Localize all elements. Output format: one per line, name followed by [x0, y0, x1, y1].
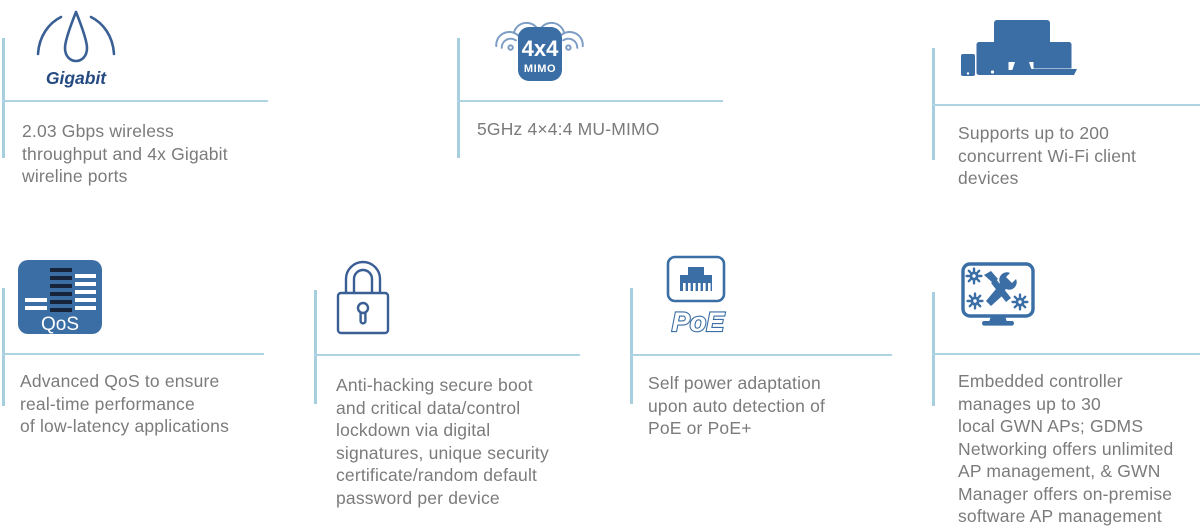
horizontal-rule [457, 100, 723, 102]
horizontal-rule [932, 104, 1200, 106]
feature-card-poe: PoE Self power adaptation upon auto dete… [628, 248, 928, 516]
poe-icon-label: PoE [672, 307, 726, 337]
feature-card-controller: Embedded controller manages up to 30 loc… [930, 248, 1200, 516]
feature-card-gigabit: Gigabit 2.03 Gbps wireless throughput an… [0, 0, 300, 200]
vertical-rule [2, 38, 5, 158]
mimo-icon-sublabel: MIMO [524, 63, 556, 75]
feature-description: 5GHz 4×4:4 MU-MIMO [477, 118, 747, 141]
feature-card-qos: QoS Advanced QoS to ensure real-time per… [0, 248, 300, 516]
mimo-wifi-icon: 4x4 MIMO [485, 3, 597, 87]
vertical-rule [314, 290, 317, 404]
qos-equalizer-icon: QoS [18, 260, 102, 334]
monitor-tools-icon [960, 262, 1036, 330]
mimo-icon-label: 4x4 [522, 36, 559, 61]
horizontal-rule [2, 100, 268, 102]
poe-rj45-icon: PoE [656, 253, 740, 341]
feature-description: Advanced QoS to ensure real-time perform… [20, 370, 290, 438]
feature-description: Self power adaptation upon auto detectio… [648, 372, 908, 440]
horizontal-rule [630, 354, 892, 356]
feature-card-mimo: 4x4 MIMO 5GHz 4×4:4 MU-MIMO [455, 0, 755, 200]
feature-grid: Gigabit 2.03 Gbps wireless throughput an… [0, 0, 1200, 516]
gigabit-speed-icon: Gigabit [32, 8, 120, 90]
feature-description: Supports up to 200 concurrent Wi-Fi clie… [958, 122, 1200, 190]
feature-card-clients: Supports up to 200 concurrent Wi-Fi clie… [930, 0, 1200, 200]
feature-description: Embedded controller manages up to 30 loc… [958, 370, 1200, 528]
multi-device-icon [960, 18, 1078, 80]
vertical-rule [630, 288, 633, 404]
vertical-rule [932, 292, 935, 406]
vertical-rule [2, 288, 5, 406]
horizontal-rule [314, 354, 580, 356]
padlock-icon [332, 260, 394, 336]
horizontal-rule [2, 353, 264, 355]
vertical-rule [457, 38, 460, 158]
feature-card-security: Anti-hacking secure boot and critical da… [312, 248, 612, 516]
gigabit-icon-label: Gigabit [46, 68, 107, 88]
horizontal-rule [932, 353, 1200, 355]
qos-icon-label: QoS [41, 314, 79, 335]
feature-description: 2.03 Gbps wireless throughput and 4x Gig… [22, 120, 278, 188]
feature-description: Anti-hacking secure boot and critical da… [336, 374, 586, 509]
